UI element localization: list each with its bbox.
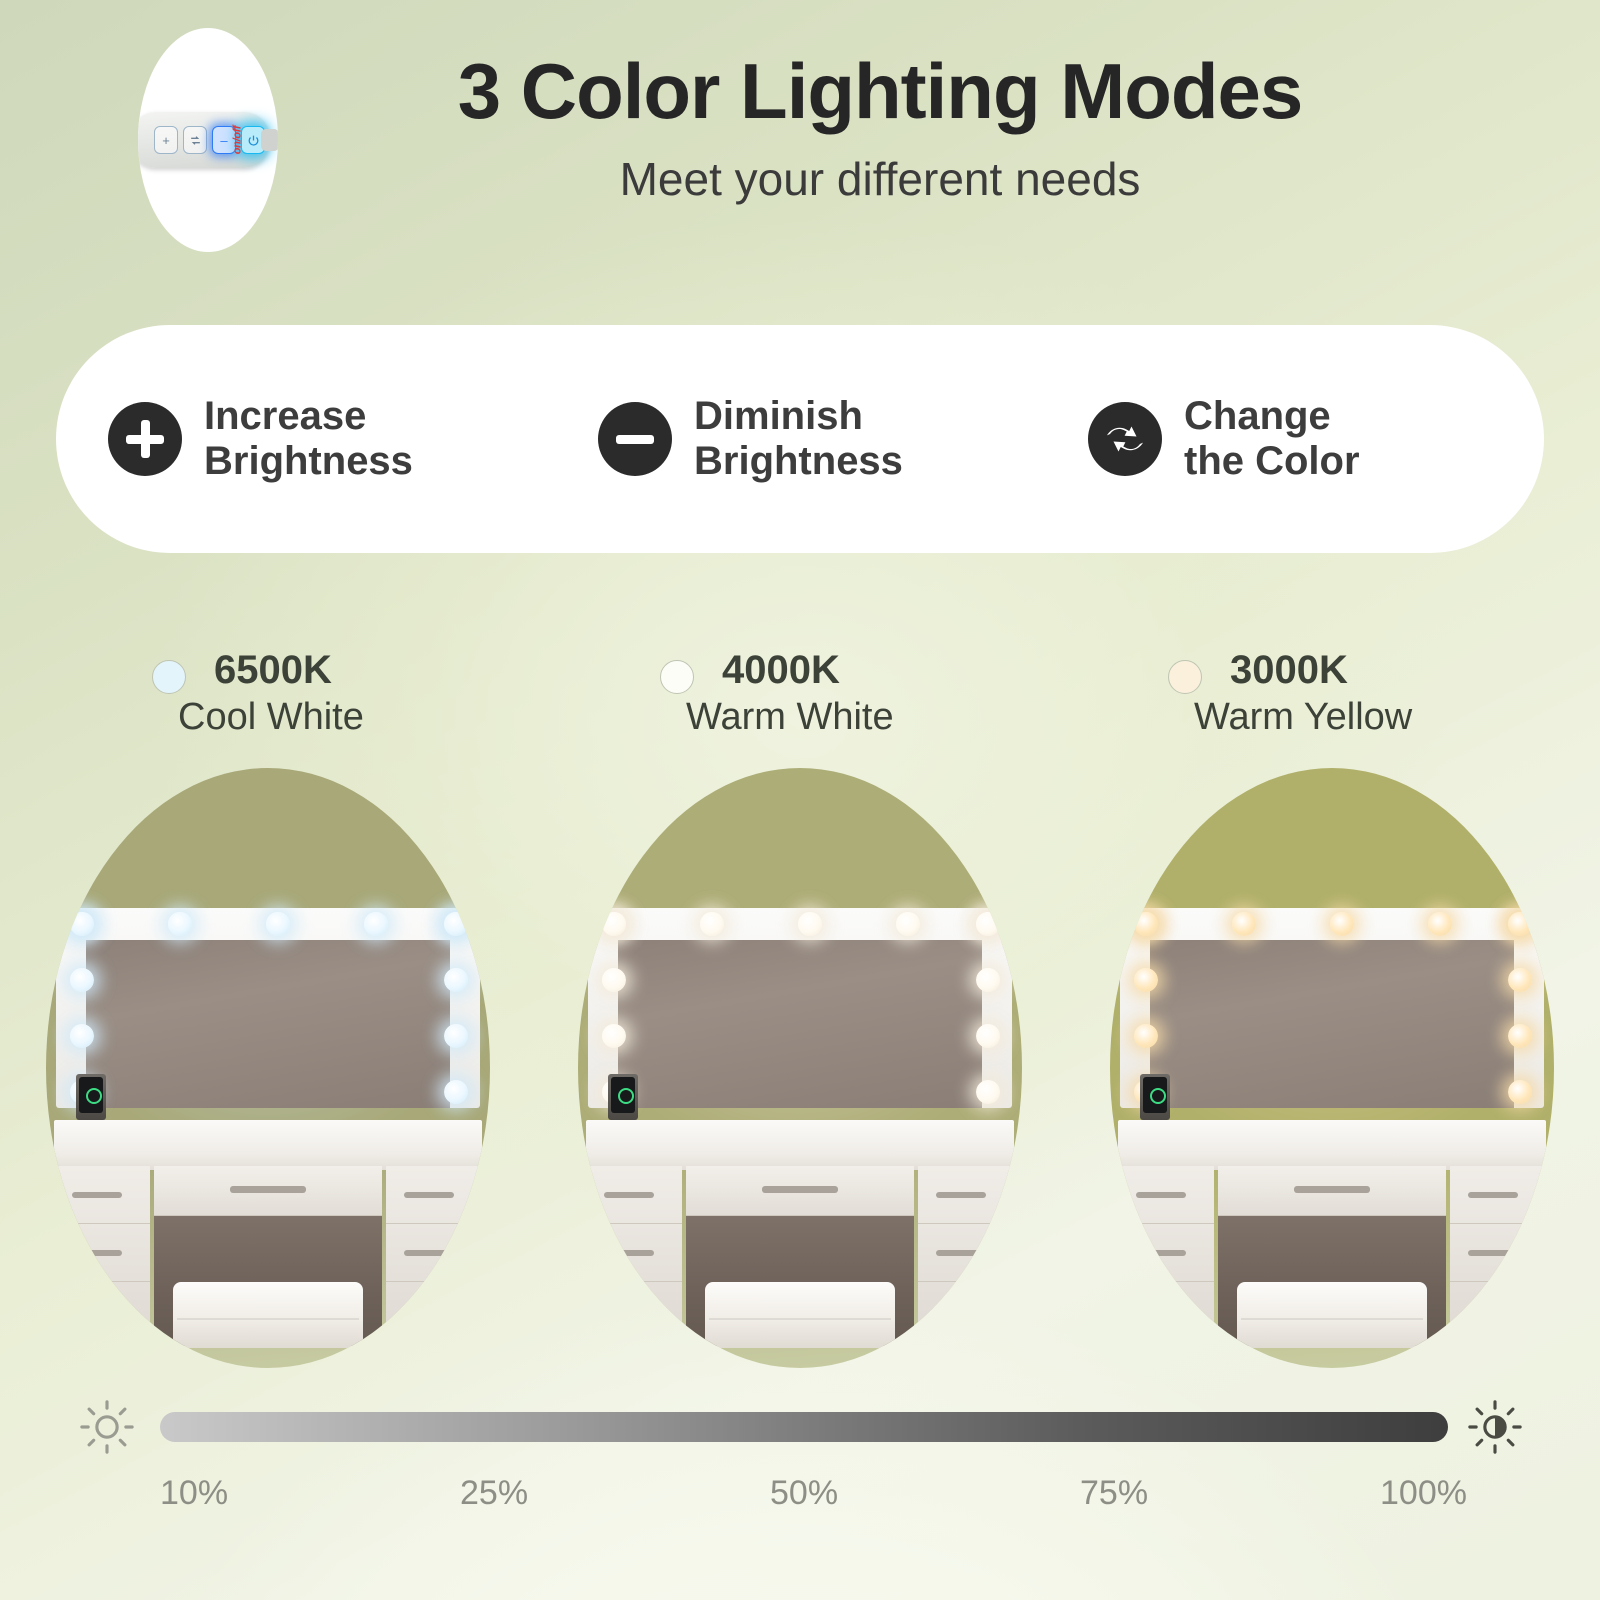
power-icon (241, 126, 265, 154)
mirror-bulb (1508, 1024, 1532, 1048)
vanity-desktop (586, 1120, 1014, 1170)
color-swatch-dot (660, 660, 694, 694)
feature-label: Increase Brightness (204, 394, 413, 484)
sun-high-icon (1466, 1398, 1524, 1456)
color-kelvin: 4000K (722, 648, 840, 693)
tick-label-25: 25% (460, 1474, 528, 1513)
color-name: Warm Yellow (1194, 696, 1412, 739)
mirror-bulb (976, 1080, 1000, 1104)
mirror-bulb (266, 912, 290, 936)
mirror-bulb (602, 968, 626, 992)
mirror-bulb (602, 912, 626, 936)
mirror-bulb (70, 968, 94, 992)
mirror-bulb (168, 912, 192, 936)
phone-charging-stand (608, 1074, 638, 1120)
minus-circle-icon (598, 402, 672, 476)
page-title: 3 Color Lighting Modes (300, 46, 1460, 137)
tick-label-75: 75% (1080, 1474, 1148, 1513)
vanity-mirror (56, 908, 480, 1108)
drawer-column-right[interactable] (1450, 1166, 1546, 1346)
color-name: Warm White (686, 696, 894, 739)
feature-line-1: Diminish (694, 394, 903, 439)
swap-arrows-icon (183, 126, 207, 154)
center-drawer[interactable] (154, 1166, 382, 1216)
brightness-slider[interactable] (160, 1412, 1448, 1442)
swap-color-icon (1088, 402, 1162, 476)
center-drawer[interactable] (686, 1166, 914, 1216)
mirror-bulb (70, 912, 94, 936)
phone-charging-stand (1140, 1074, 1170, 1120)
mirror-bulb (70, 1024, 94, 1048)
vanity-drawers (586, 1166, 1014, 1346)
mirror-bulb (976, 968, 1000, 992)
feature-line-2: Brightness (694, 439, 903, 484)
mirror-bulb (1330, 912, 1354, 936)
mirror-bulb (444, 912, 468, 936)
mirror-bulb (700, 912, 724, 936)
mirror-bulb (364, 912, 388, 936)
vanity-desktop (54, 1120, 482, 1170)
remote-control-device: + – on/off (138, 112, 270, 168)
vanity-bench (1237, 1282, 1427, 1348)
mirror-bulb (444, 968, 468, 992)
charging-indicator (618, 1088, 634, 1104)
center-drawer[interactable] (1218, 1166, 1446, 1216)
phone-screen (79, 1077, 103, 1113)
feature-card: Increase Brightness Diminish Brightness … (56, 325, 1544, 553)
mirror-bulb (1508, 1080, 1532, 1104)
mirror-bulb (444, 1024, 468, 1048)
vanity-photo-6500k (46, 768, 490, 1368)
color-swatch-dot (152, 660, 186, 694)
color-swatch-dot (1168, 660, 1202, 694)
feature-line-2: Brightness (204, 439, 413, 484)
phone-charging-stand (76, 1074, 106, 1120)
vanity-photo-3000k (1110, 768, 1554, 1368)
drawer-column-left[interactable] (1118, 1166, 1214, 1346)
feature-label: Diminish Brightness (694, 394, 903, 484)
mirror-bulb (1508, 912, 1532, 936)
tick-label-50: 50% (770, 1474, 838, 1513)
mirror-bulb (1134, 1024, 1158, 1048)
plus-circle-icon (108, 402, 182, 476)
feature-line-1: Increase (204, 394, 413, 439)
color-name: Cool White (178, 696, 364, 739)
page-subtitle: Meet your different needs (300, 152, 1460, 206)
feature-diminish-brightness: Diminish Brightness (598, 394, 1088, 484)
mirror-glass (1150, 940, 1514, 1108)
phone-screen (1143, 1077, 1167, 1113)
drawer-column-left[interactable] (586, 1166, 682, 1346)
mirror-bulb (1428, 912, 1452, 936)
vanity-drawers (1118, 1166, 1546, 1346)
tick-label-100: 100% (1380, 1474, 1467, 1513)
vanity-mirror (588, 908, 1012, 1108)
plus-icon: + (154, 126, 178, 154)
mirror-glass (86, 940, 450, 1108)
vanity-mirror (1120, 908, 1544, 1108)
feature-increase-brightness: Increase Brightness (108, 394, 598, 484)
mirror-bulb (602, 1024, 626, 1048)
mirror-bulb (976, 912, 1000, 936)
feature-change-color: Change the Color (1088, 394, 1518, 484)
mirror-bulb (444, 1080, 468, 1104)
color-kelvin: 3000K (1230, 648, 1348, 693)
vanity-photo-4000k (578, 768, 1022, 1368)
feature-line-2: the Color (1184, 439, 1360, 484)
mirror-bulb (976, 1024, 1000, 1048)
phone-screen (611, 1077, 635, 1113)
mirror-bulb (896, 912, 920, 936)
feature-line-1: Change (1184, 394, 1360, 439)
mirror-glass (618, 940, 982, 1108)
vanity-bench (173, 1282, 363, 1348)
feature-label: Change the Color (1184, 394, 1360, 484)
vanity-desktop (1118, 1120, 1546, 1170)
drawer-column-right[interactable] (918, 1166, 1014, 1346)
charging-indicator (86, 1088, 102, 1104)
remote-onoff-label: on/off (232, 126, 244, 155)
mirror-bulb (1134, 912, 1158, 936)
drawer-column-left[interactable] (54, 1166, 150, 1346)
drawer-column-right[interactable] (386, 1166, 482, 1346)
mirror-bulb (1232, 912, 1256, 936)
vanity-bench (705, 1282, 895, 1348)
sun-low-icon (78, 1398, 136, 1456)
color-kelvin: 6500K (214, 648, 332, 693)
remote-control-badge: + – on/off (138, 28, 278, 252)
mirror-bulb (1508, 968, 1532, 992)
vanity-drawers (54, 1166, 482, 1346)
mirror-bulb (1134, 968, 1158, 992)
tick-label-10: 10% (160, 1474, 228, 1513)
charging-indicator (1150, 1088, 1166, 1104)
mirror-bulb (798, 912, 822, 936)
